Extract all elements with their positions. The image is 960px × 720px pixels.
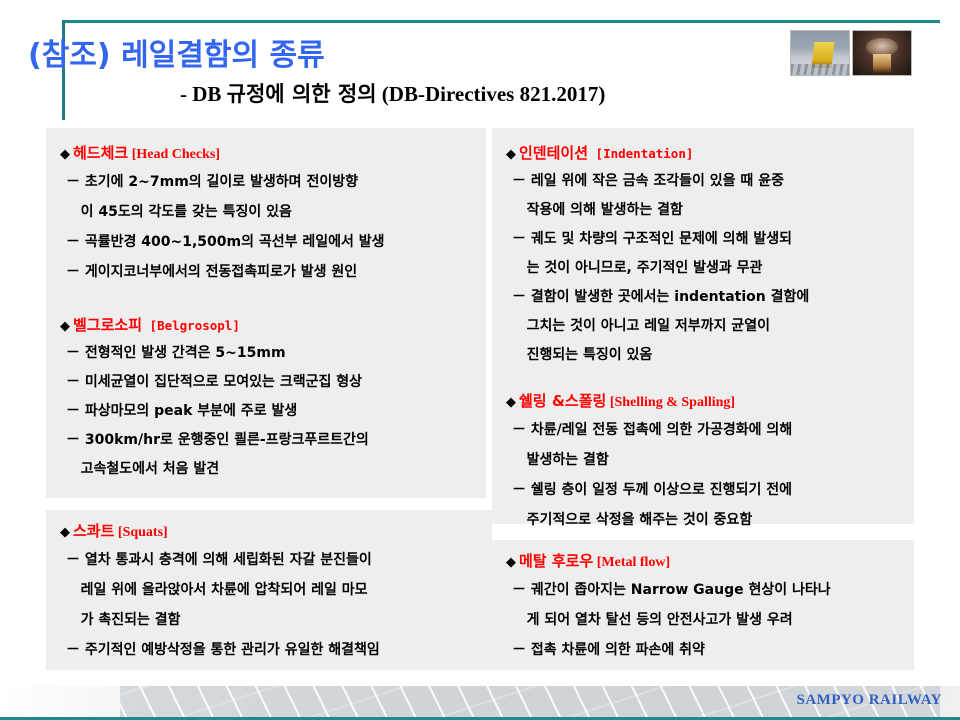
defect-name-en: [Belgrosopl] [142,318,240,333]
defect-detail-line: 레일 위에 올라앉아서 차륜에 압착되어 레일 마모 [66,582,367,599]
page-subtitle: - DB 규정에 의한 정의 (DB-Directives 821.2017) [180,78,900,108]
defect-panel-squats: ◆스콰트 [Squats]－ 열차 통과시 충격에 의해 세립화된 자갈 분진들… [46,510,492,670]
defect-detail-line: － 게이지코너부에서의 전동접촉피로가 발생 원인 [66,264,357,281]
defect-name-ko: 메탈 후로우 [519,552,593,570]
defect-detail-line: － 쉘링 층이 일정 두께 이상으로 진행되기 전에 [512,482,792,499]
slide-footer: SAMPYO RAILWAY [0,686,960,720]
defect-heading-metal-flow: ◆메탈 후로우 [Metal flow] [506,552,670,572]
rail-weld-section-photo [852,30,912,76]
subtitle-prefix: - DB [180,82,227,106]
defect-detail-line: 가 촉진되는 결함 [66,612,181,629]
defect-heading-indentation: ◆인덴테이션 [Indentation] [506,144,693,163]
defect-detail-line: 는 것이 아니므로, 주기적인 발생과 무관 [512,260,762,277]
defect-name-en: [Head Checks] [128,147,220,162]
defect-name-ko: 쉘링 &스폴링 [519,392,606,410]
brand-label: SAMPYO RAILWAY [796,692,942,709]
defect-name-ko: 인덴테이션 [519,144,588,162]
defect-detail-line: － 곡률반경 400~1,500m의 곡선부 레일에서 발생 [66,234,385,251]
defect-detail-line: － 파상마모의 peak 부분에 주로 발생 [66,403,297,420]
header-top-rule [62,20,940,23]
defect-detail-line: 이 45도의 각도를 갖는 특징이 있음 [66,204,292,221]
diamond-bullet-icon: ◆ [506,555,516,570]
defect-detail-line: 고속철도에서 처음 발견 [66,461,219,478]
diamond-bullet-icon: ◆ [60,147,70,162]
defect-detail-line: － 차륜/레일 전동 접촉에 의한 가공경화에 의해 [512,422,792,439]
defect-detail-line: － 전형적인 발생 간격은 5~15mm [66,345,286,362]
defect-panel-shelling-spalling: ◆쉘링 &스폴링 [Shelling & Spalling]－ 차륜/레일 전동… [492,382,914,524]
defect-name-en: [Shelling & Spalling] [606,395,735,410]
rail-grinding-train-photo [790,30,850,76]
defect-detail-line: － 결함이 발생한 곳에서는 indentation 결함에 [512,289,809,306]
defect-detail-line: 주기적으로 삭정을 해주는 것이 중요함 [512,512,752,529]
defect-detail-line: 작용에 의해 발생하는 결함 [512,202,683,219]
defect-name-ko: 벨그로소피 [73,316,142,334]
defect-heading-squats: ◆스콰트 [Squats] [60,522,168,542]
defect-name-en: [Indentation] [588,146,693,161]
defect-name-en: [Squats] [114,525,167,540]
defect-heading-head-checks: ◆헤드체크 [Head Checks] [60,144,220,164]
diamond-bullet-icon: ◆ [506,395,516,410]
defect-name-ko: 헤드체크 [73,144,128,162]
defect-detail-line: － 궤간이 좁아지는 Narrow Gauge 현상이 나타나 [512,582,831,599]
defect-detail-line: 발생하는 결함 [512,452,609,469]
diamond-bullet-icon: ◆ [60,319,70,334]
defect-panel-indentation: ◆인덴테이션 [Indentation]－ 레일 위에 작은 금속 조각들이 있… [492,128,914,382]
subtitle-suffix: (DB-Directives 821.2017) [377,82,606,106]
defect-name-ko: 스콰트 [73,522,114,540]
defect-panel-belgrosopl: ◆벨그로소피 [Belgrosopl]－ 전형적인 발생 간격은 5~15mm－… [46,306,486,498]
defect-detail-line: － 초기에 2~7mm의 길이로 발생하며 전이방향 [66,174,358,191]
defect-name-en: [Metal flow] [593,555,670,570]
defect-detail-line: － 접촉 차륜에 의한 파손에 취약 [512,642,705,659]
defect-detail-line: － 미세균열이 집단적으로 모여있는 크랙군집 형상 [66,374,362,391]
defect-detail-line: － 궤도 및 차량의 구조적인 문제에 의해 발생되 [512,231,792,248]
defect-detail-line: 진행되는 특징이 있옴 [512,347,652,364]
defect-detail-line: － 주기적인 예방삭정을 통한 관리가 유일한 해결책임 [66,642,380,659]
page-title: (참조) 레일결함의 종류 [28,30,588,74]
defect-heading-belgrosopl: ◆벨그로소피 [Belgrosopl] [60,316,240,335]
defect-detail-line: － 300km/hr로 운행중인 쾰른-프랑크푸르트간의 [66,432,369,449]
subtitle-korean: 규정에 의한 정의 [227,82,377,106]
defect-detail-line: 게 되어 열차 탈선 등의 안전사고가 발생 우려 [512,612,793,629]
defect-panel-head-checks: ◆헤드체크 [Head Checks]－ 초기에 2~7mm의 길이로 발생하며… [46,128,486,306]
defect-detail-line: － 레일 위에 작은 금속 조각들이 있을 때 윤중 [512,173,784,190]
defect-panel-metal-flow: ◆메탈 후로우 [Metal flow]－ 궤간이 좁아지는 Narrow Ga… [492,540,914,670]
diamond-bullet-icon: ◆ [60,525,70,540]
defect-heading-shelling-spalling: ◆쉘링 &스폴링 [Shelling & Spalling] [506,392,735,412]
defect-detail-line: － 열차 통과시 충격에 의해 세립화된 자갈 분진들이 [66,552,372,569]
defect-detail-line: 그치는 것이 아니고 레일 저부까지 균열이 [512,318,770,335]
slide-root: (참조) 레일결함의 종류 - DB 규정에 의한 정의 (DB-Directi… [0,0,960,720]
diamond-bullet-icon: ◆ [506,147,516,162]
